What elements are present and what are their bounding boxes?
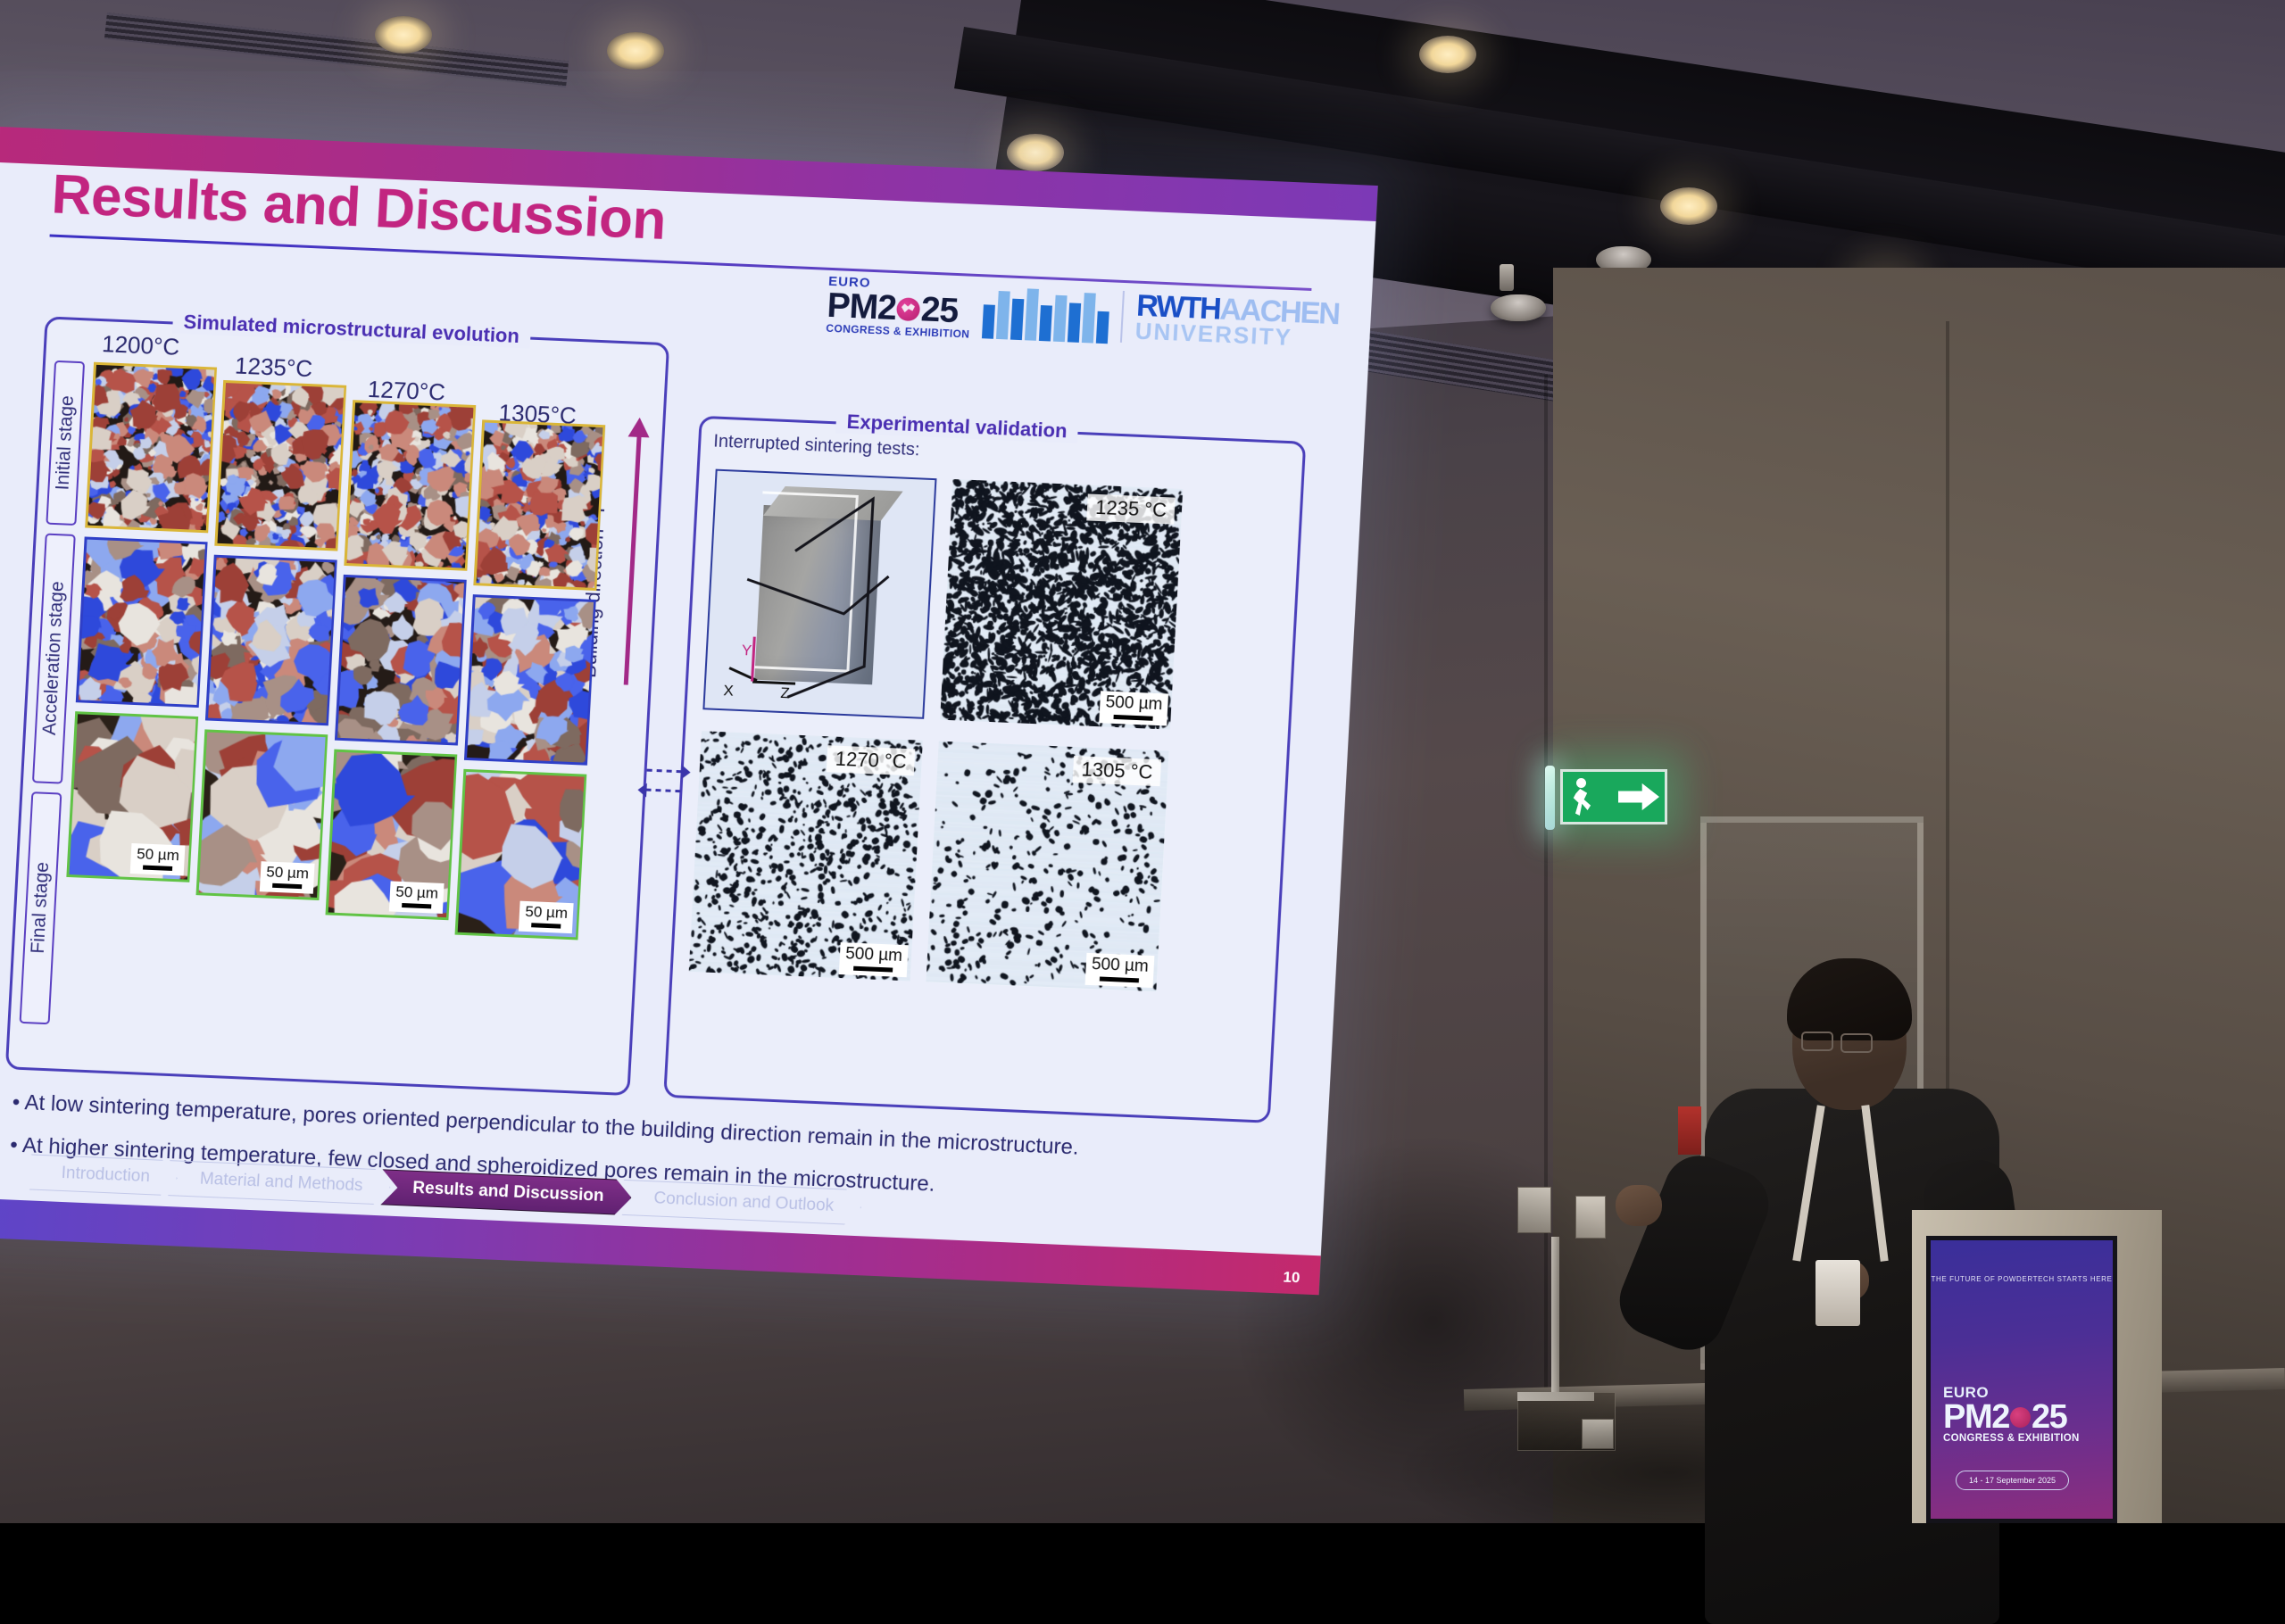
podium-logo-pm2: PM2 [1943,1400,2009,1434]
sim-tile-initial-1305 [473,419,605,591]
sim-tile-final-1270: 50 µm [326,750,458,921]
podium-logo-congress: CONGRESS & EXHIBITION [1943,1434,2080,1445]
fire-alarm-box[interactable] [1678,1106,1701,1155]
stage-label-initial: Initial stage [46,360,85,526]
podium-date: 14 - 17 September 2025 [1956,1471,2069,1490]
euro-logo-pm2: PM2 [827,288,897,326]
stage-label-acceleration: Acceleration stage [32,534,76,784]
temperature-label-1235: 1235°C [234,352,313,384]
temperature-label-1200: 1200°C [101,330,180,361]
sample-photo: X Y Z [702,469,936,719]
podium-display: THE FUTURE OF POWDERTECH STARTS HERE EUR… [1926,1236,2117,1523]
simulation-panel: Simulated microstructural evolution Init… [5,316,669,1096]
axis-label-y: Y [741,642,752,659]
podium-logo: EURO PM2 25 CONGRESS & EXHIBITION [1943,1385,2080,1445]
micrograph-1270-label: 1270 °C [827,745,915,775]
axis-label-z: Z [780,684,790,702]
presenter-badge [1816,1260,1860,1326]
scalebar-final-1235: 50 µm [260,861,314,893]
downlight-3 [1419,36,1476,73]
sprinkler-head [1500,264,1514,291]
presenter-glasses-right [1840,1033,1873,1053]
downlight-2 [1007,134,1064,171]
sim-tile-accel-1270 [335,575,467,746]
building-direction-arrow [624,435,642,685]
running-man-icon [1568,776,1597,817]
micrograph-1270: 1270 °C 500 µm [689,731,923,981]
podium-tagline: THE FUTURE OF POWDERTECH STARTS HERE [1931,1274,2113,1286]
title-underline [50,234,1312,290]
coordinate-axes: X Y Z [727,630,810,700]
iwm-logo [982,283,1110,344]
emergency-light-tube [1545,766,1555,830]
arrow-head-left-icon [637,783,647,797]
sim-tile-final-1305: 50 µm [455,769,587,940]
simulation-panel-caption: Simulated microstructural evolution [172,310,531,348]
logo-divider [1120,291,1125,343]
sim-tile-final-1235: 50 µm [195,729,328,900]
podium-logo-25: 25 [2032,1400,2066,1434]
micrograph-1305: 1305 °C 500 µm [926,742,1168,992]
downlight-4 [1660,187,1717,225]
scalebar-1235: 500 µm [1099,691,1168,725]
scalebar-final-1270: 50 µm [389,882,444,914]
scalebar-final-1305: 50 µm [519,901,573,933]
globe-icon [896,297,920,321]
smoke-detector-2 [1491,294,1546,321]
stage-label-final: Final stage [20,791,62,1024]
presenter-glasses-left [1801,1032,1833,1051]
connector-arrow-right [647,769,683,774]
sim-tile-initial-1235 [214,380,346,551]
scalebar-final-1200: 50 µm [130,843,185,875]
scalebar-1270: 500 µm [839,942,909,977]
globe-icon [2010,1407,2031,1428]
arrow-head-right-icon [681,765,691,779]
rwth-aachen-logo: RWTHAACHEN UNIVERSITY [1134,293,1340,351]
projection-screen: 10 Results and Discussion EURO PM2 25 CO… [0,127,1392,1434]
sim-tile-final-1200: 50 µm [66,711,198,882]
wall-seam-2 [1946,321,1949,1214]
slide: 10 Results and Discussion EURO PM2 25 CO… [0,127,1378,1295]
euro-pm2025-logo: EURO PM2 25 CONGRESS & EXHIBITION [826,275,972,340]
exit-sign [1560,769,1667,824]
podium-logo-pm2025: PM2 25 [1943,1400,2080,1434]
sim-tile-accel-1305 [464,594,596,766]
euro-logo-25: 25 [920,292,959,328]
experimental-panel: Experimental validation Interrupted sint… [663,416,1306,1123]
micrograph-1235: 1235 °C 500 µm [940,479,1183,730]
sim-tile-accel-1235 [205,555,337,726]
scalebar-1305: 500 µm [1085,953,1155,988]
downlight-6 [375,16,432,54]
sim-tile-accel-1200 [76,536,208,708]
micrograph-1235-label: 1235 °C [1086,493,1175,524]
axis-label-x: X [723,682,734,700]
downlight-1 [607,32,664,70]
interrupted-sintering-label: Interrupted sintering tests: [713,431,920,460]
sim-tile-initial-1200 [85,362,217,534]
arrow-right-icon [1618,781,1659,813]
sim-tile-initial-1270 [344,400,476,571]
presenter-left-hand [1616,1185,1662,1226]
breadcrumb-item-introduction[interactable]: Introduction [29,1154,179,1196]
micrograph-1305-label: 1305 °C [1073,756,1161,786]
slide-page-number: 10 [1283,1269,1300,1288]
connector-arrow-left [645,789,681,793]
